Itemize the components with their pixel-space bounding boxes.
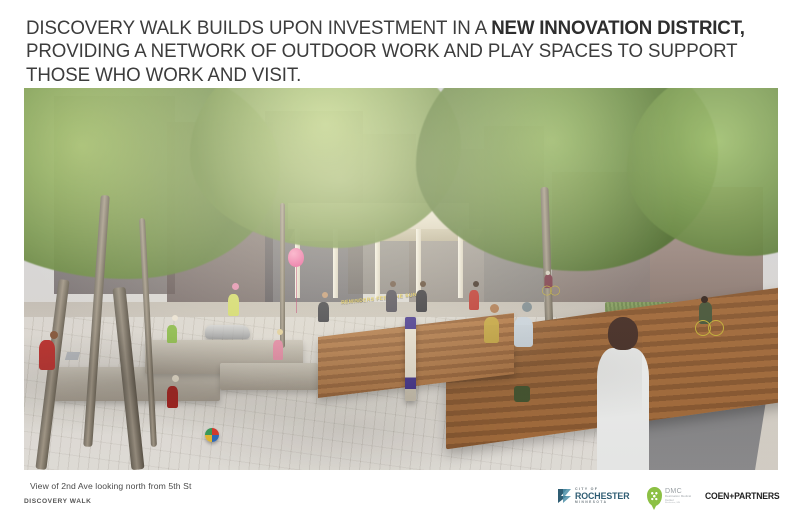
image-caption: View of 2nd Ave looking north from 5th S…	[30, 481, 191, 491]
person-head-with-cap	[522, 302, 532, 312]
stone-seat-block	[220, 363, 318, 390]
cyclist-head	[701, 296, 708, 303]
person-seated	[318, 302, 329, 322]
rendering-scene: REMINDERS FEEL THE SUN	[24, 88, 778, 470]
rochester-wordmark: CITY OF ROCHESTER MINNESOTA	[575, 488, 633, 504]
parked-car	[205, 325, 250, 339]
city-of-rochester-logo: CITY OF ROCHESTER MINNESOTA	[558, 488, 633, 504]
person-walking	[416, 290, 427, 312]
person-legs	[514, 386, 530, 402]
headline-lead: DISCOVERY WALK BUILDS UPON INVESTMENT IN…	[26, 17, 491, 39]
cyclist-head	[545, 270, 549, 274]
page-title: DISCOVERY WALK BUILDS UPON INVESTMENT IN…	[26, 17, 748, 87]
bike-wheel	[550, 285, 560, 295]
headline-emphasis: NEW INNOVATION DISTRICT,	[491, 17, 745, 39]
project-name-label: DISCOVERY WALK	[24, 498, 91, 505]
rendering-image: REMINDERS FEEL THE SUN	[24, 88, 778, 470]
tree-trunk	[280, 203, 285, 348]
laptop	[65, 352, 80, 360]
coen-partners-logo: COEN+PARTNERS	[705, 491, 780, 502]
painted-bollard	[405, 317, 416, 401]
dmc-pin-dots	[650, 490, 659, 503]
child-walking	[228, 294, 239, 316]
rochester-logo-main: ROCHESTER	[575, 491, 629, 500]
pavilion-column	[416, 229, 421, 298]
partner-logo-bar: CITY OF ROCHESTER MINNESOTA DMC Destinat…	[558, 481, 788, 511]
child-head	[473, 281, 479, 287]
dmc-wordmark: DMC Destination Medical Center Rochester…	[665, 488, 691, 505]
person-on-bench	[514, 317, 533, 347]
child-head	[277, 329, 283, 335]
dmc-map-pin-icon	[647, 487, 662, 506]
person-head	[50, 331, 58, 339]
pavilion-column	[458, 229, 463, 298]
rochester-arrow-icon	[558, 488, 572, 504]
bike-wheel	[708, 320, 724, 336]
child-playing	[167, 386, 178, 408]
person-head	[490, 304, 499, 313]
person-on-bench	[484, 317, 499, 343]
foreground-person-head	[608, 317, 638, 350]
person-head	[420, 281, 426, 287]
pink-balloon	[288, 248, 304, 267]
child-walking	[273, 340, 283, 360]
child-head	[232, 283, 239, 290]
child-playing	[167, 325, 177, 343]
person-head	[390, 281, 396, 287]
cyclist	[542, 274, 558, 295]
child-climbing	[469, 290, 479, 310]
person-seated-with-laptop	[39, 340, 55, 370]
child-head	[172, 375, 179, 382]
play-ball	[205, 428, 219, 442]
dmc-logo-tiny: Rochester, MN	[665, 502, 691, 504]
headline-rest: PROVIDING A NETWORK OF OUTDOOR WORK AND …	[26, 40, 737, 85]
person-walking	[386, 290, 397, 312]
foreground-person-body	[597, 348, 649, 470]
dmc-logo: DMC Destination Medical Center Rochester…	[647, 487, 691, 506]
cyclist	[695, 302, 721, 336]
